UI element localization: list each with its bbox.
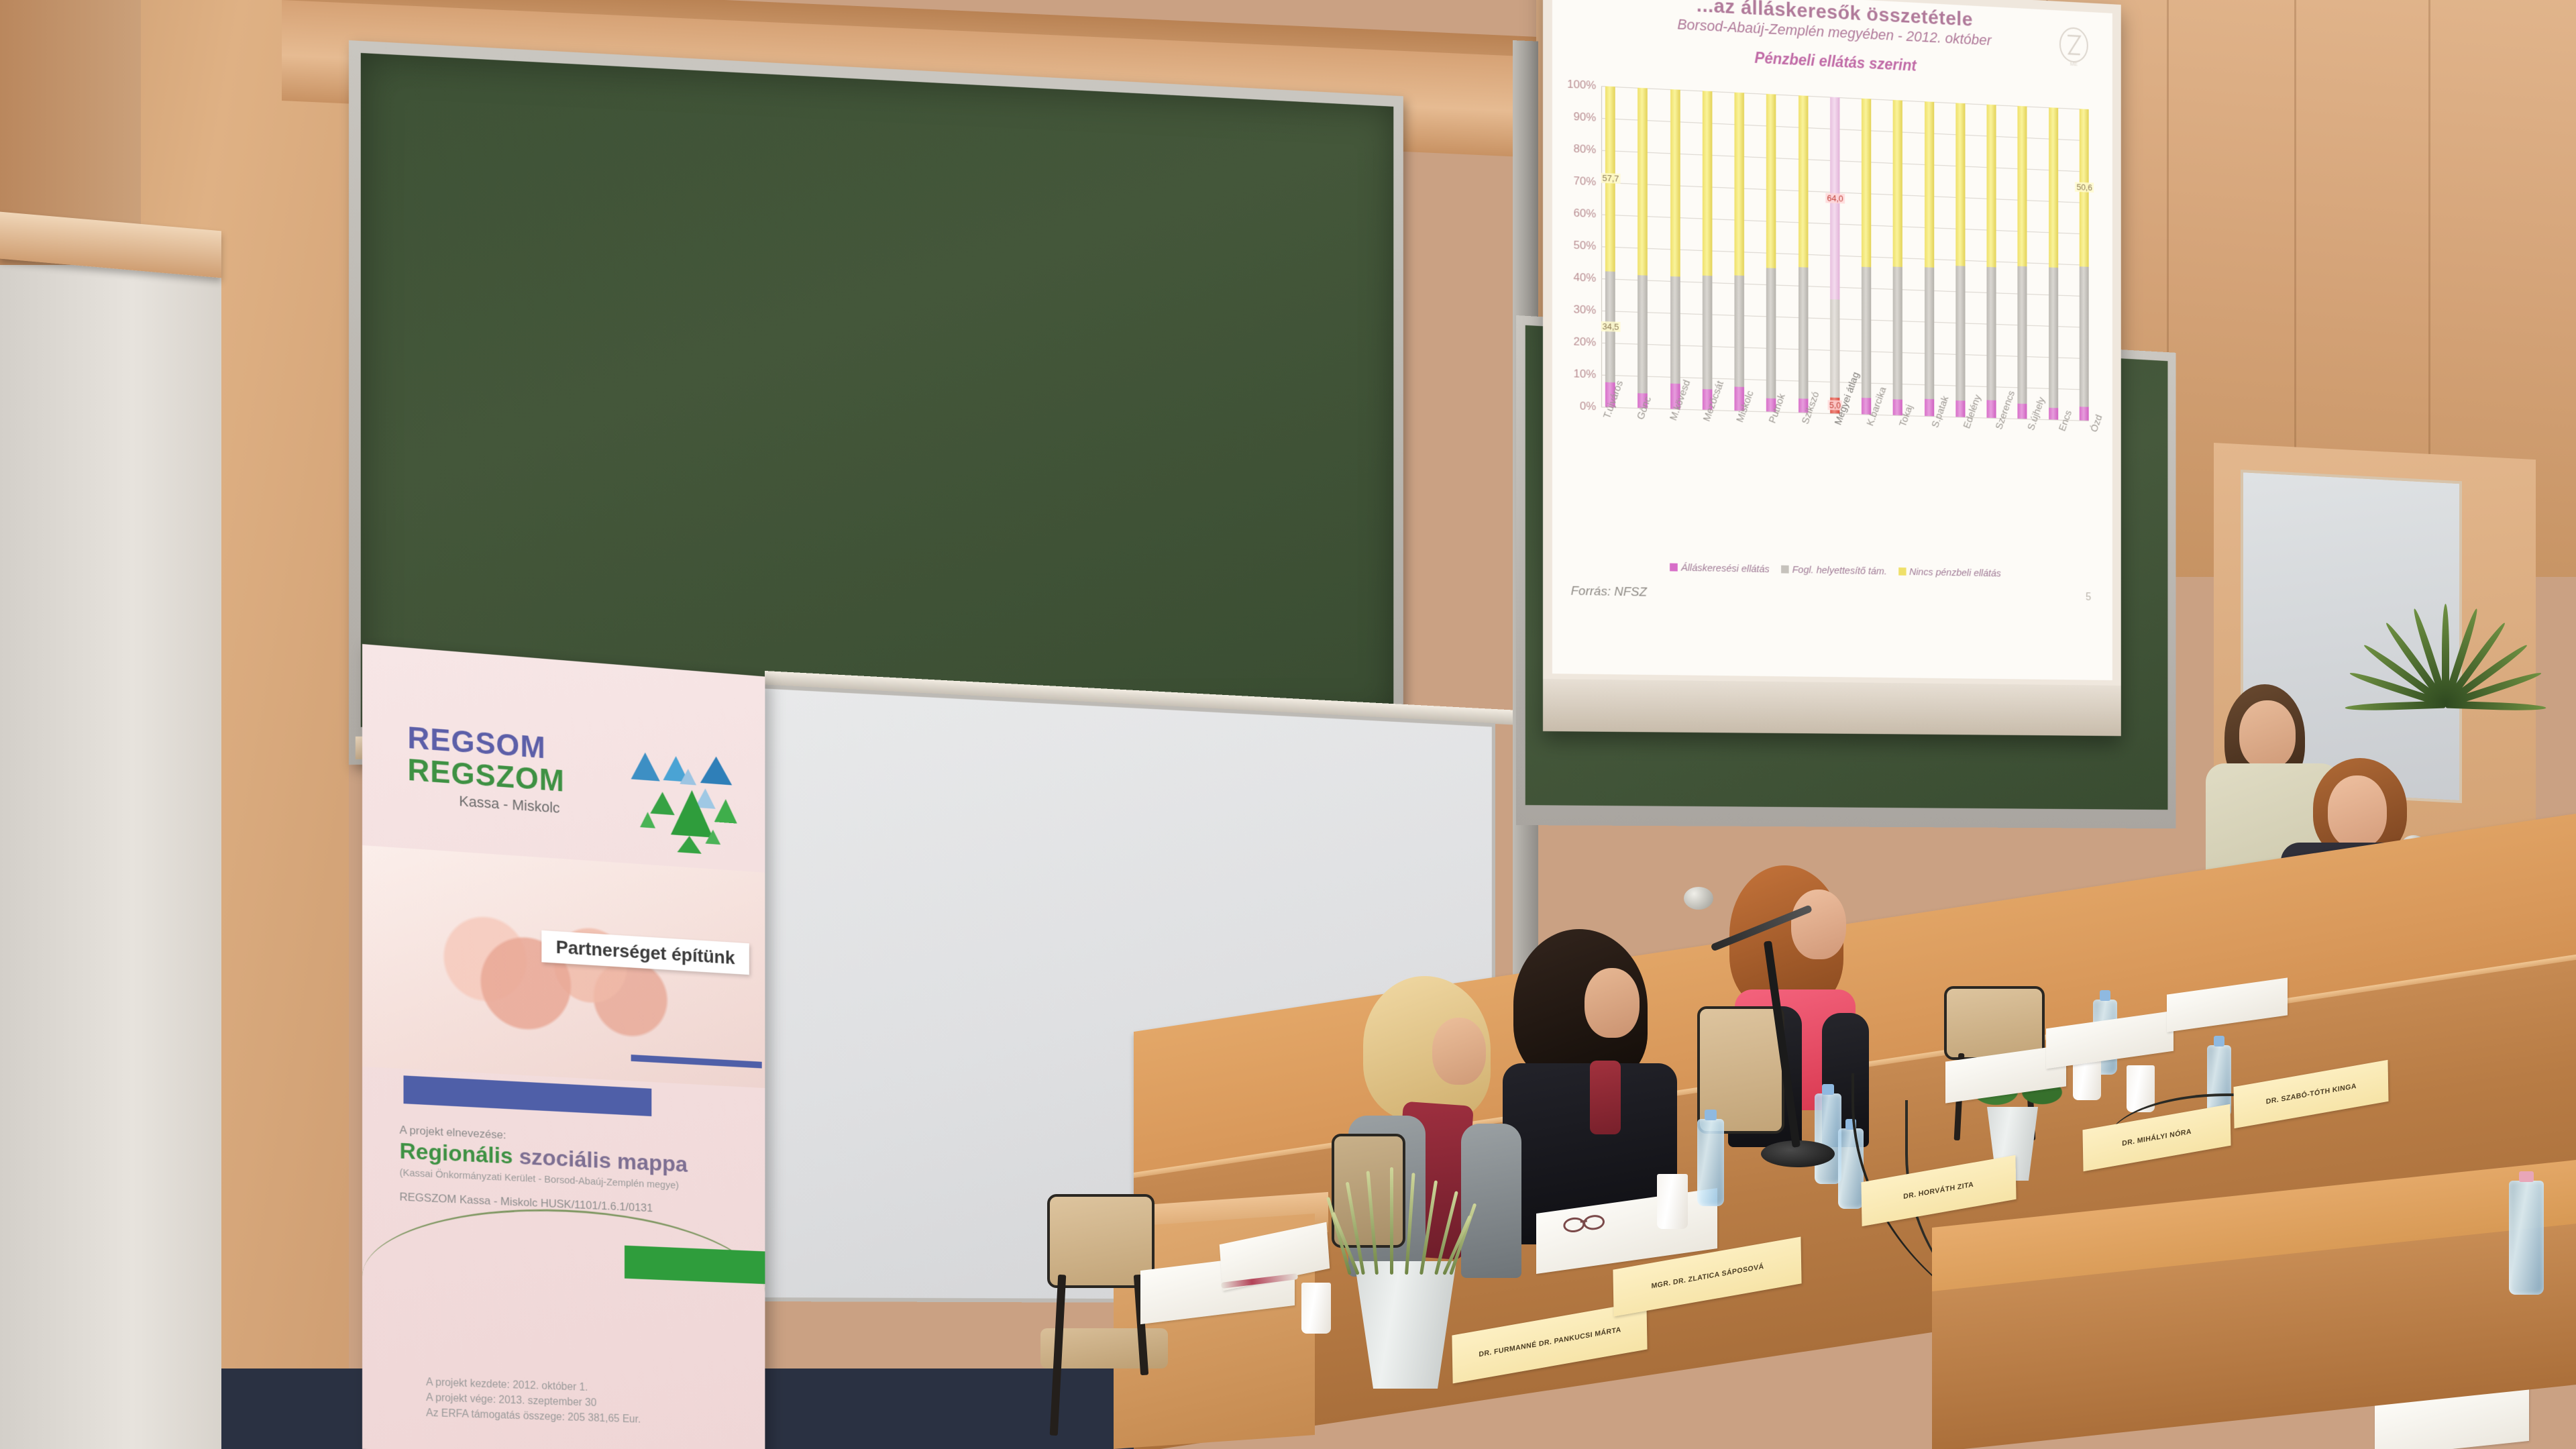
chart-bar-segment [1766, 268, 1776, 398]
head [2328, 775, 2387, 848]
chart-bar-segment: 57,7 [1605, 86, 1615, 271]
head [1585, 968, 1640, 1038]
chart-bar-segment [1925, 101, 1934, 267]
chart-bar-segment [1987, 105, 1996, 268]
chart-y-tick-label: 70% [1574, 174, 1597, 189]
chart-bar: 64,05,0 [1830, 97, 1839, 413]
placard-label: DR. FURMANNÉ DR. PANKUCSI MÁRTA [1479, 1326, 1621, 1359]
chalkboard-surface [361, 53, 1394, 727]
left-lower-wall [0, 265, 221, 1449]
chart-bar-segment [2018, 404, 2027, 419]
rollup-banner: REGSOM REGSZOM Kassa - Miskolc Partnersé… [362, 644, 765, 1449]
placard-label: MGR. DR. ZLATICA SÁPOSOVÁ [1651, 1263, 1764, 1290]
banner-blue-bar [403, 1075, 651, 1116]
chart-data-label: 57,7 [1601, 173, 1620, 184]
banner-project-dates: A projekt kezdete: 2012. október 1. A pr… [426, 1375, 763, 1431]
chart-legend: Álláskeresési ellátásFogl. helyettesítő … [1552, 559, 2112, 581]
chart-bar-segment [2049, 408, 2058, 420]
chart-bar-segment [1799, 95, 1808, 267]
chart-bar-segment [1955, 266, 1965, 401]
legend-label: Nincs pénzbeli ellátás [1909, 566, 2001, 579]
screenshot-root: ME ...az álláskeresők összetétele Borsod… [0, 0, 2576, 1449]
legend-swatch-icon [1781, 566, 1789, 574]
legend-label: Álláskeresési ellátás [1681, 562, 1770, 575]
chart-bar-segment [1925, 267, 1934, 399]
chart-bar-segment [1703, 276, 1713, 389]
chart-bar-segment [1893, 266, 1902, 399]
chart-plot-area: 0%10%20%30%40%50%60%70%80%90%100%57,734,… [1601, 86, 2089, 421]
chart-bar [1862, 99, 1871, 415]
chart-data-label: 50,6 [2076, 182, 2094, 193]
screen-bottom-bar [1543, 679, 2121, 736]
chart-bar-segment [2080, 266, 2089, 407]
slide-source: Forrás: NFSZ [1571, 584, 1647, 600]
chart-bar [2018, 106, 2027, 419]
chart-x-tick-label: Ózd [2089, 413, 2105, 434]
chart-bar-segment [2049, 267, 2058, 408]
chart-bar [1703, 91, 1713, 410]
chart-data-label: 64,0 [1826, 193, 1845, 203]
placard-label: DR. MIHÁLYI NÓRA [2122, 1128, 2192, 1148]
chart-y-tick-label: 0% [1580, 399, 1596, 413]
chart-bar-segment [1830, 299, 1839, 398]
chart-bar-segment [1799, 267, 1808, 399]
person-panelist-dark [1496, 929, 1677, 1238]
chart-bar-segment [1766, 94, 1776, 268]
chart-bar-segment [1735, 275, 1745, 386]
chart-bar-segment: 50,6 [2080, 109, 2089, 266]
chart-bar [1955, 103, 1965, 417]
chart-bar-segment [2080, 407, 2089, 421]
chart-y-tick-label: 10% [1574, 367, 1597, 381]
chart-bar-segment [1955, 400, 1965, 417]
head [1791, 890, 1846, 959]
chart-legend-item: Álláskeresési ellátás [1670, 562, 1770, 576]
projected-slide: ME ...az álláskeresők összetétele Borsod… [1552, 0, 2112, 680]
chart-legend-item: Nincs pénzbeli ellátás [1898, 566, 2001, 579]
banner-logo: REGSOM REGSZOM Kassa - Miskolc [407, 721, 564, 817]
chart-bar-segment [1987, 267, 1996, 400]
chart-bar-segment [1703, 91, 1713, 276]
chart-bar-segment [1670, 89, 1680, 276]
chart-bar-segment [2018, 266, 2027, 404]
water-bottle-1 [1697, 1119, 1724, 1206]
chart-y-tick-label: 80% [1574, 142, 1597, 156]
chart-bar-segment [1638, 275, 1648, 394]
chart-bar-segment [1925, 399, 1934, 417]
chart-bar [1987, 105, 1996, 418]
placard-label: DR. SZABÓ-TÓTH KINGA [2265, 1082, 2356, 1106]
banner-project-name-green: Regionális [400, 1138, 513, 1169]
chart-bar [1638, 88, 1648, 409]
university-logo-icon: ME [2056, 25, 2091, 70]
chart-bar-segment [1735, 93, 1745, 276]
chart-y-tick-label: 40% [1574, 270, 1597, 284]
slide-chart: ME ...az álláskeresők összetétele Borsod… [1552, 0, 2112, 680]
chart-bar-segment: 64,0 [1830, 97, 1839, 299]
chart-y-tick-label: 50% [1574, 239, 1597, 253]
svg-text:ME: ME [2070, 61, 2078, 67]
chart-y-tick-label: 30% [1574, 303, 1597, 317]
head [1432, 1018, 1486, 1085]
chart-bar [1670, 89, 1680, 409]
chart-bar-segment [1670, 276, 1680, 384]
chart-bar: 57,734,5 [1605, 86, 1615, 407]
chart-bar [1735, 93, 1745, 411]
chart-y-tick-label: 60% [1574, 207, 1597, 221]
red-collar [1590, 1061, 1621, 1134]
chart-legend-item: Fogl. helyettesítő tám. [1781, 564, 1887, 578]
chart-bar-segment [2018, 106, 2027, 266]
chart-bar-segment [1638, 88, 1648, 276]
banner-project-block: A projekt elnevezése: Regionális szociál… [400, 1124, 750, 1220]
lavender-plant [1342, 1167, 1476, 1275]
projection-screen: ME ...az álláskeresők összetétele Borsod… [1543, 0, 2121, 736]
chart-bar-segment [1987, 400, 1996, 419]
placard-label: DR. HORVÁTH ZITA [1903, 1181, 1974, 1201]
chart-y-tick-label: 20% [1574, 335, 1597, 349]
chart-y-tick-label: 100% [1567, 78, 1596, 93]
legend-swatch-icon [1898, 568, 1906, 576]
legend-swatch-icon [1670, 563, 1678, 572]
chart-bar-segment [1862, 267, 1871, 398]
chart-bars: 57,734,564,05,050,6 [1605, 86, 2089, 421]
chart-bar [1893, 100, 1902, 415]
yucca-plant [2328, 543, 2556, 704]
chart-bar [1925, 101, 1934, 416]
chart-bar [1766, 94, 1776, 412]
water-bottle-front [2509, 1181, 2544, 1295]
water-bottle-2 [1815, 1093, 1841, 1184]
chart-bar-segment [1862, 99, 1871, 267]
chart-x-labels: T.újvárosGöncM.kövesdMezőcsátMiskolcPutn… [1601, 413, 2089, 550]
triangles-logo-icon [625, 739, 753, 860]
chart-y-tick-label: 90% [1574, 110, 1597, 124]
chart-bar [2049, 107, 2058, 420]
chart-bar-segment [2049, 107, 2058, 268]
slide-page-number: 5 [2086, 592, 2091, 604]
chair-back [1047, 1194, 1155, 1288]
banner-green-bar [625, 1246, 765, 1285]
chart-bar-segment [1893, 100, 1902, 267]
legend-label: Fogl. helyettesítő tám. [1792, 564, 1887, 577]
chart-bar: 50,6 [2080, 109, 2089, 421]
paper-cup-left [1301, 1283, 1331, 1334]
chart-bar-segment: 34,5 [1605, 271, 1615, 382]
chart-bar-segment [1955, 103, 1965, 266]
chart-bar [1799, 95, 1808, 413]
panel-mic-head [1684, 887, 1713, 910]
chart-data-label: 34,5 [1601, 321, 1620, 332]
paper-cup-mid [1657, 1174, 1688, 1229]
